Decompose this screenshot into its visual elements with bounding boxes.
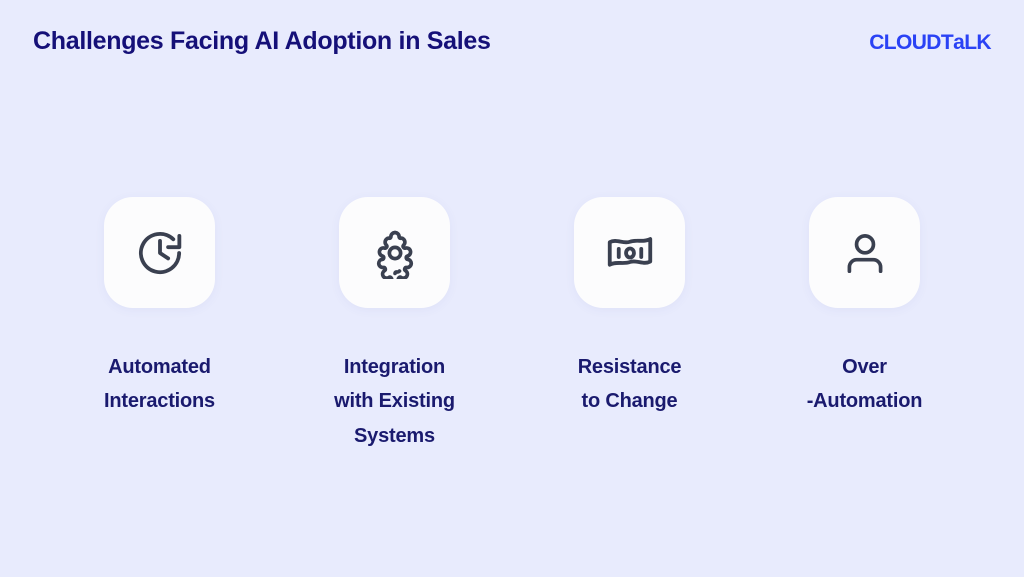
card-label: Automated Interactions: [65, 350, 255, 419]
slide-header: Challenges Facing AI Adoption in Sales C…: [0, 0, 1024, 84]
logo-part-a: a: [953, 32, 964, 53]
page-title: Challenges Facing AI Adoption in Sales: [33, 28, 491, 56]
card-label: Over -Automation: [770, 350, 960, 419]
logo-part-cloudt: CLOUDT: [869, 32, 953, 53]
user-icon: [839, 227, 891, 279]
challenge-cards-row: Automated Interactions Integration with …: [0, 197, 1024, 453]
challenge-card-over-automation: Over -Automation: [809, 197, 920, 419]
icon-tile: [104, 197, 215, 308]
icon-tile: [339, 197, 450, 308]
challenge-card-automated-interactions: Automated Interactions: [104, 197, 215, 419]
card-label: Resistance to Change: [535, 350, 725, 419]
challenge-card-integration-existing-systems: Integration with Existing Systems: [339, 197, 450, 453]
banknote-icon: [603, 226, 657, 280]
cloudtalk-logo: CLOUDTaLK: [869, 32, 991, 53]
gear-icon: [369, 227, 421, 279]
clock-rotate-icon: [133, 226, 187, 280]
logo-part-lk: LK: [964, 32, 991, 53]
card-label: Integration with Existing Systems: [300, 350, 490, 453]
challenge-card-resistance-to-change: Resistance to Change: [574, 197, 685, 419]
icon-tile: [574, 197, 685, 308]
icon-tile: [809, 197, 920, 308]
slide-canvas: Challenges Facing AI Adoption in Sales C…: [0, 0, 1024, 577]
